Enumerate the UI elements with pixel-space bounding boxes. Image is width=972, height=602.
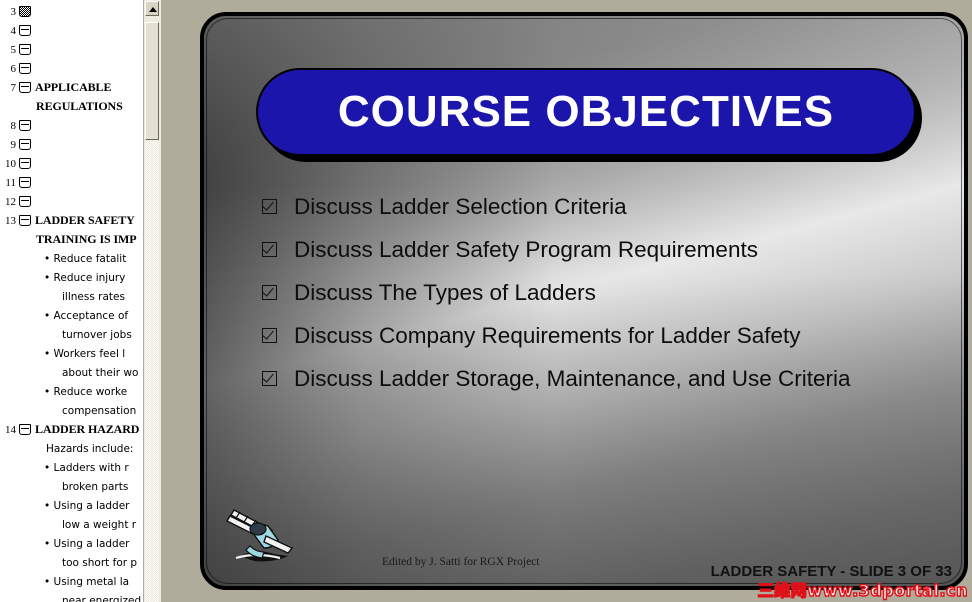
outline-slide-title-line2: TRAINING IS IMP <box>36 231 143 248</box>
slide-thumb-icon[interactable] <box>19 139 31 150</box>
outline-wrapped-text: illness rates <box>62 288 143 307</box>
slide-thumb-icon[interactable] <box>19 120 31 131</box>
outline-slide-title: APPLICABLE <box>35 79 143 96</box>
outline-wrapped-line[interactable]: near energized <box>0 592 143 602</box>
outline-bullet-text: • Using a ladder <box>53 497 143 516</box>
outline-slide-row[interactable]: 5 <box>0 41 143 60</box>
slide-thumb-icon[interactable] <box>19 215 31 226</box>
outline-body-text: Hazards include: <box>46 440 143 459</box>
slide-pane: COURSE OBJECTIVES Discuss Ladder Selecti… <box>161 0 972 602</box>
outline-slide-row[interactable]: 11 <box>0 174 143 193</box>
outline-bullet-text: • Ladders with r <box>53 459 143 478</box>
outline-bullet-text: • Reduce worke <box>53 383 143 402</box>
outline-bullet-text: • Reduce fatalit <box>53 250 143 269</box>
bullet-row: Discuss The Types of Ladders <box>262 280 944 305</box>
outline-slide-number: 5 <box>0 41 16 59</box>
powerpoint-outline-and-slide-view: 34567APPLICABLEREGULATIONS8910111213LADD… <box>0 0 972 602</box>
bullet-list: Discuss Ladder Selection CriteriaDiscuss… <box>262 194 944 409</box>
outline-slide-number: 7 <box>0 79 16 97</box>
scrollbar-thumb[interactable] <box>145 22 159 140</box>
outline-slide-number: 14 <box>0 421 16 439</box>
outline-slide-number: 10 <box>0 155 16 173</box>
checked-checkbox-icon <box>262 199 279 216</box>
outline-bullet-text: • Acceptance of <box>53 307 143 326</box>
checked-checkbox-icon <box>262 242 279 259</box>
outline-slide-row[interactable]: 12 <box>0 193 143 212</box>
outline-bullet-line[interactable]: • Ladders with r <box>0 459 143 478</box>
bullet-row: Discuss Company Requirements for Ladder … <box>262 323 944 348</box>
slide-thumb-icon[interactable] <box>19 63 31 74</box>
title-plate[interactable]: COURSE OBJECTIVES <box>256 68 916 156</box>
outline-bullet-text: • Workers feel l <box>53 345 143 364</box>
bullet-label: Discuss Ladder Safety Program Requiremen… <box>294 237 758 262</box>
outline-slide-row[interactable]: 6 <box>0 60 143 79</box>
slide-thumb-icon[interactable] <box>19 196 31 207</box>
outline-slide-row[interactable]: 4 <box>0 22 143 41</box>
outline-slide-row[interactable]: 13LADDER SAFETY <box>0 212 143 231</box>
outline-slide-row[interactable]: 14LADDER HAZARD <box>0 421 143 440</box>
outline-bullet-line[interactable]: • Using a ladder <box>0 497 143 516</box>
slide-thumb-icon[interactable] <box>19 25 31 36</box>
bullet-label: Discuss Company Requirements for Ladder … <box>294 323 800 348</box>
scrollbar-track[interactable] <box>145 141 159 602</box>
bullet-label: Discuss Ladder Selection Criteria <box>294 194 627 219</box>
slide-thumb-icon[interactable] <box>19 158 31 169</box>
slide-canvas[interactable]: COURSE OBJECTIVES Discuss Ladder Selecti… <box>200 12 968 590</box>
outline-wrapped-text: too short for p <box>62 554 143 573</box>
edited-by-credit: Edited by J. Satti for RGX Project <box>382 556 539 568</box>
outline-slide-number: 11 <box>0 174 16 192</box>
outline-bullet-line[interactable]: • Using metal la <box>0 573 143 592</box>
outline-wrapped-text: compensation <box>62 402 143 421</box>
outline-wrapped-text: low a weight r <box>62 516 143 535</box>
slide-thumb-icon[interactable] <box>19 424 31 435</box>
outline-bullet-line[interactable]: • Using a ladder <box>0 535 143 554</box>
bullet-row: Discuss Ladder Storage, Maintenance, and… <box>262 366 944 391</box>
checked-checkbox-icon <box>262 328 279 345</box>
outline-slide-title: LADDER HAZARD <box>35 421 143 438</box>
slide-thumb-icon[interactable] <box>19 44 31 55</box>
outline-slide-number: 13 <box>0 212 16 230</box>
outline-slide-number: 8 <box>0 117 16 135</box>
outline-wrapped-text: near energized <box>62 592 143 602</box>
outline-slide-number: 4 <box>0 22 16 40</box>
outline-slide-title: LADDER SAFETY <box>35 212 143 229</box>
outline-bullet-text: • Reduce injury <box>53 269 143 288</box>
outline-bullet-line[interactable]: • Workers feel l <box>0 345 143 364</box>
outline-slide-number: 12 <box>0 193 16 211</box>
outline-slide-title-continuation[interactable]: REGULATIONS <box>0 98 143 117</box>
slide-thumb-icon[interactable] <box>19 82 31 93</box>
outline-wrapped-line[interactable]: about their wo <box>0 364 143 383</box>
checked-checkbox-icon <box>262 285 279 302</box>
outline-wrapped-line[interactable]: broken parts <box>0 478 143 497</box>
outline-bullet-line[interactable]: • Reduce worke <box>0 383 143 402</box>
outline-bullet-line[interactable]: • Reduce injury <box>0 269 143 288</box>
outline-vertical-scrollbar[interactable] <box>143 0 161 602</box>
outline-slide-row[interactable]: 9 <box>0 136 143 155</box>
outline-slide-title-line2: REGULATIONS <box>36 98 143 115</box>
outline-slide-row[interactable]: 3 <box>0 3 143 22</box>
outline-slide-row[interactable]: 7APPLICABLE <box>0 79 143 98</box>
outline-wrapped-line[interactable]: too short for p <box>0 554 143 573</box>
slide-title: COURSE OBJECTIVES <box>338 87 834 137</box>
bullet-label: Discuss Ladder Storage, Maintenance, and… <box>294 366 851 391</box>
outline-wrapped-line[interactable]: turnover jobs <box>0 326 143 345</box>
outline-slide-row[interactable]: 8 <box>0 117 143 136</box>
slide-thumb-icon-selected[interactable] <box>19 6 31 17</box>
bullet-label: Discuss The Types of Ladders <box>294 280 596 305</box>
outline-slide-number: 3 <box>0 3 16 21</box>
outline-wrapped-line[interactable]: compensation <box>0 402 143 421</box>
outline-slide-title-continuation[interactable]: TRAINING IS IMP <box>0 231 143 250</box>
outline-bullet-line[interactable]: • Acceptance of <box>0 307 143 326</box>
outline-body-line[interactable]: Hazards include: <box>0 440 143 459</box>
triangle-up-glyph <box>149 7 157 12</box>
bullet-row: Discuss Ladder Selection Criteria <box>262 194 944 219</box>
scroll-up-arrow-icon[interactable] <box>145 1 159 16</box>
outline-wrapped-text: broken parts <box>62 478 143 497</box>
outline-wrapped-text: turnover jobs <box>62 326 143 345</box>
outline-wrapped-text: about their wo <box>62 364 143 383</box>
outline-bullet-text: • Using metal la <box>53 573 143 592</box>
checked-checkbox-icon <box>262 371 279 388</box>
outline-wrapped-line[interactable]: illness rates <box>0 288 143 307</box>
outline-bullet-text: • Using a ladder <box>53 535 143 554</box>
outline-wrapped-line[interactable]: low a weight r <box>0 516 143 535</box>
outline-slide-number: 6 <box>0 60 16 78</box>
outline-bullet-line[interactable]: • Reduce fatalit <box>0 250 143 269</box>
ladder-worker-clipart <box>222 502 300 574</box>
outline-slide-row[interactable]: 10 <box>0 155 143 174</box>
slide-thumb-icon[interactable] <box>19 177 31 188</box>
bullet-row: Discuss Ladder Safety Program Requiremen… <box>262 237 944 262</box>
outline-slide-number: 9 <box>0 136 16 154</box>
site-watermark: 三维网www.3dportal.cn <box>758 577 968 601</box>
outline-pane[interactable]: 34567APPLICABLEREGULATIONS8910111213LADD… <box>0 0 143 602</box>
outline-list: 34567APPLICABLEREGULATIONS8910111213LADD… <box>0 0 143 602</box>
